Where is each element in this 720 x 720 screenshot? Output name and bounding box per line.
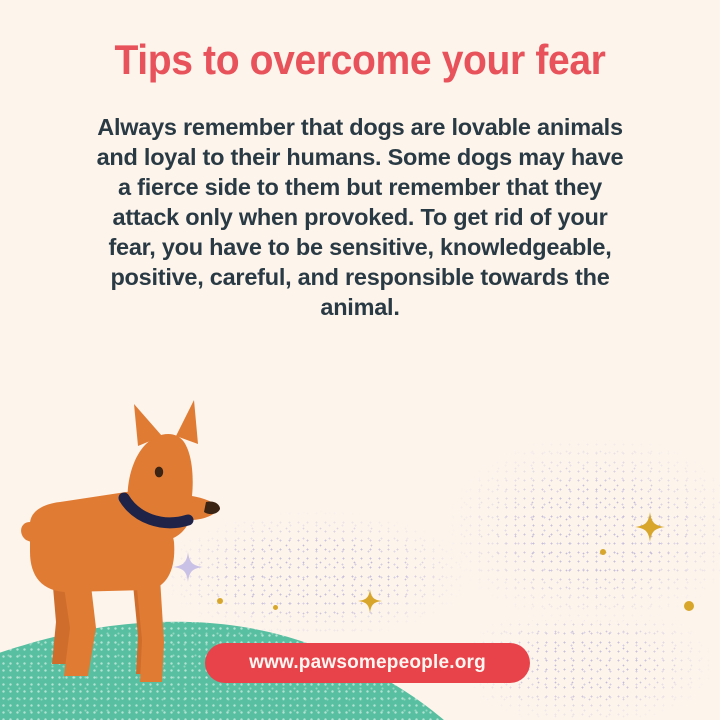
body-line: Always remember that dogs are lovable an… [60, 112, 660, 142]
sparkle-lavender-left [173, 552, 203, 582]
dot-gold-small-mid [600, 549, 606, 555]
body-line: positive, careful, and responsible towar… [60, 262, 660, 292]
page-title: Tips to overcome your fear [25, 36, 695, 84]
body-line: attack only when provoked. To get rid of… [60, 202, 660, 232]
body-line: fear, you have to be sensitive, knowledg… [60, 232, 660, 262]
body-line: a fierce side to them but remember that … [60, 172, 660, 202]
dog-eye [155, 467, 163, 478]
dot-gold-right [684, 601, 694, 611]
dog-nose [204, 501, 220, 514]
poster-canvas: Tips to overcome your fear Always rememb… [0, 0, 720, 720]
body-line: and loyal to their humans. Some dogs may… [60, 142, 660, 172]
dot-gold-small-left [217, 598, 223, 604]
website-url-text: www.pawsomepeople.org [249, 652, 486, 674]
body-line: animal. [60, 292, 660, 322]
body-paragraph: Always remember that dogs are lovable an… [60, 112, 660, 322]
sparkle-gold-center [358, 589, 382, 613]
website-url-badge[interactable]: www.pawsomepeople.org [205, 643, 530, 683]
dot-gold-under-leg [273, 605, 278, 610]
sparkle-gold-right [635, 512, 665, 542]
